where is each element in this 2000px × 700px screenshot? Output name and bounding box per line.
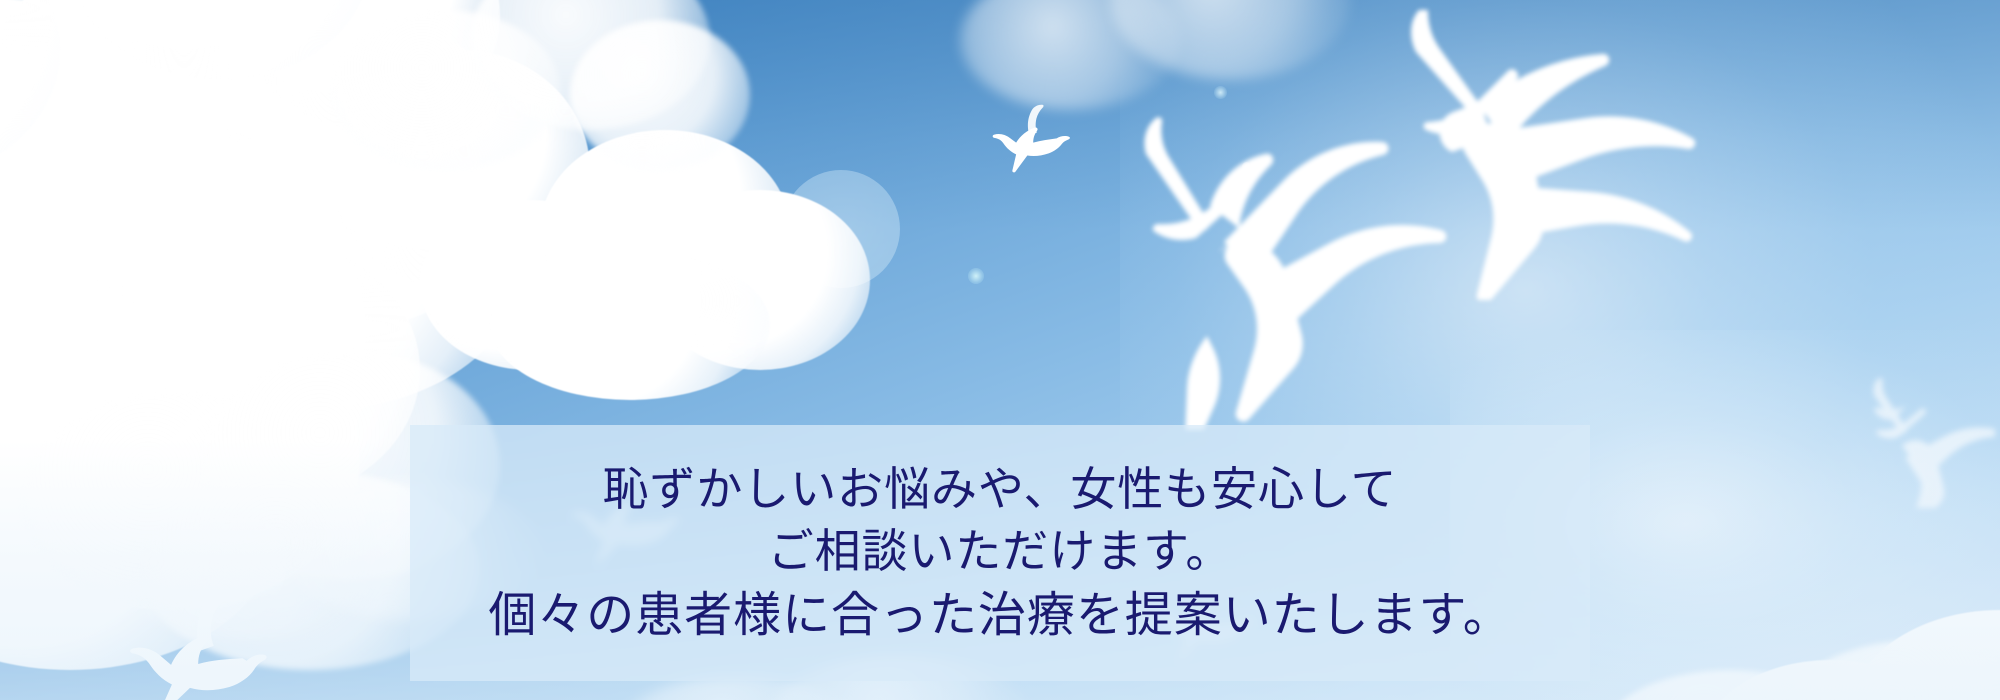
message-line-2: ご相談いただけます。 — [768, 520, 1233, 583]
message-panel: 恥ずかしいお悩みや、女性も安心して ご相談いただけます。 個々の患者様に合った治… — [410, 425, 1590, 681]
message-line-3: 個々の患者様に合った治療を提案いたします。 — [488, 583, 1511, 648]
hero-banner: 恥ずかしいお悩みや、女性も安心して ご相談いただけます。 個々の患者様に合った治… — [0, 0, 2000, 700]
message-line-1: 恥ずかしいお悩みや、女性も安心して — [603, 458, 1398, 521]
sky-top-shade — [0, 0, 2000, 230]
